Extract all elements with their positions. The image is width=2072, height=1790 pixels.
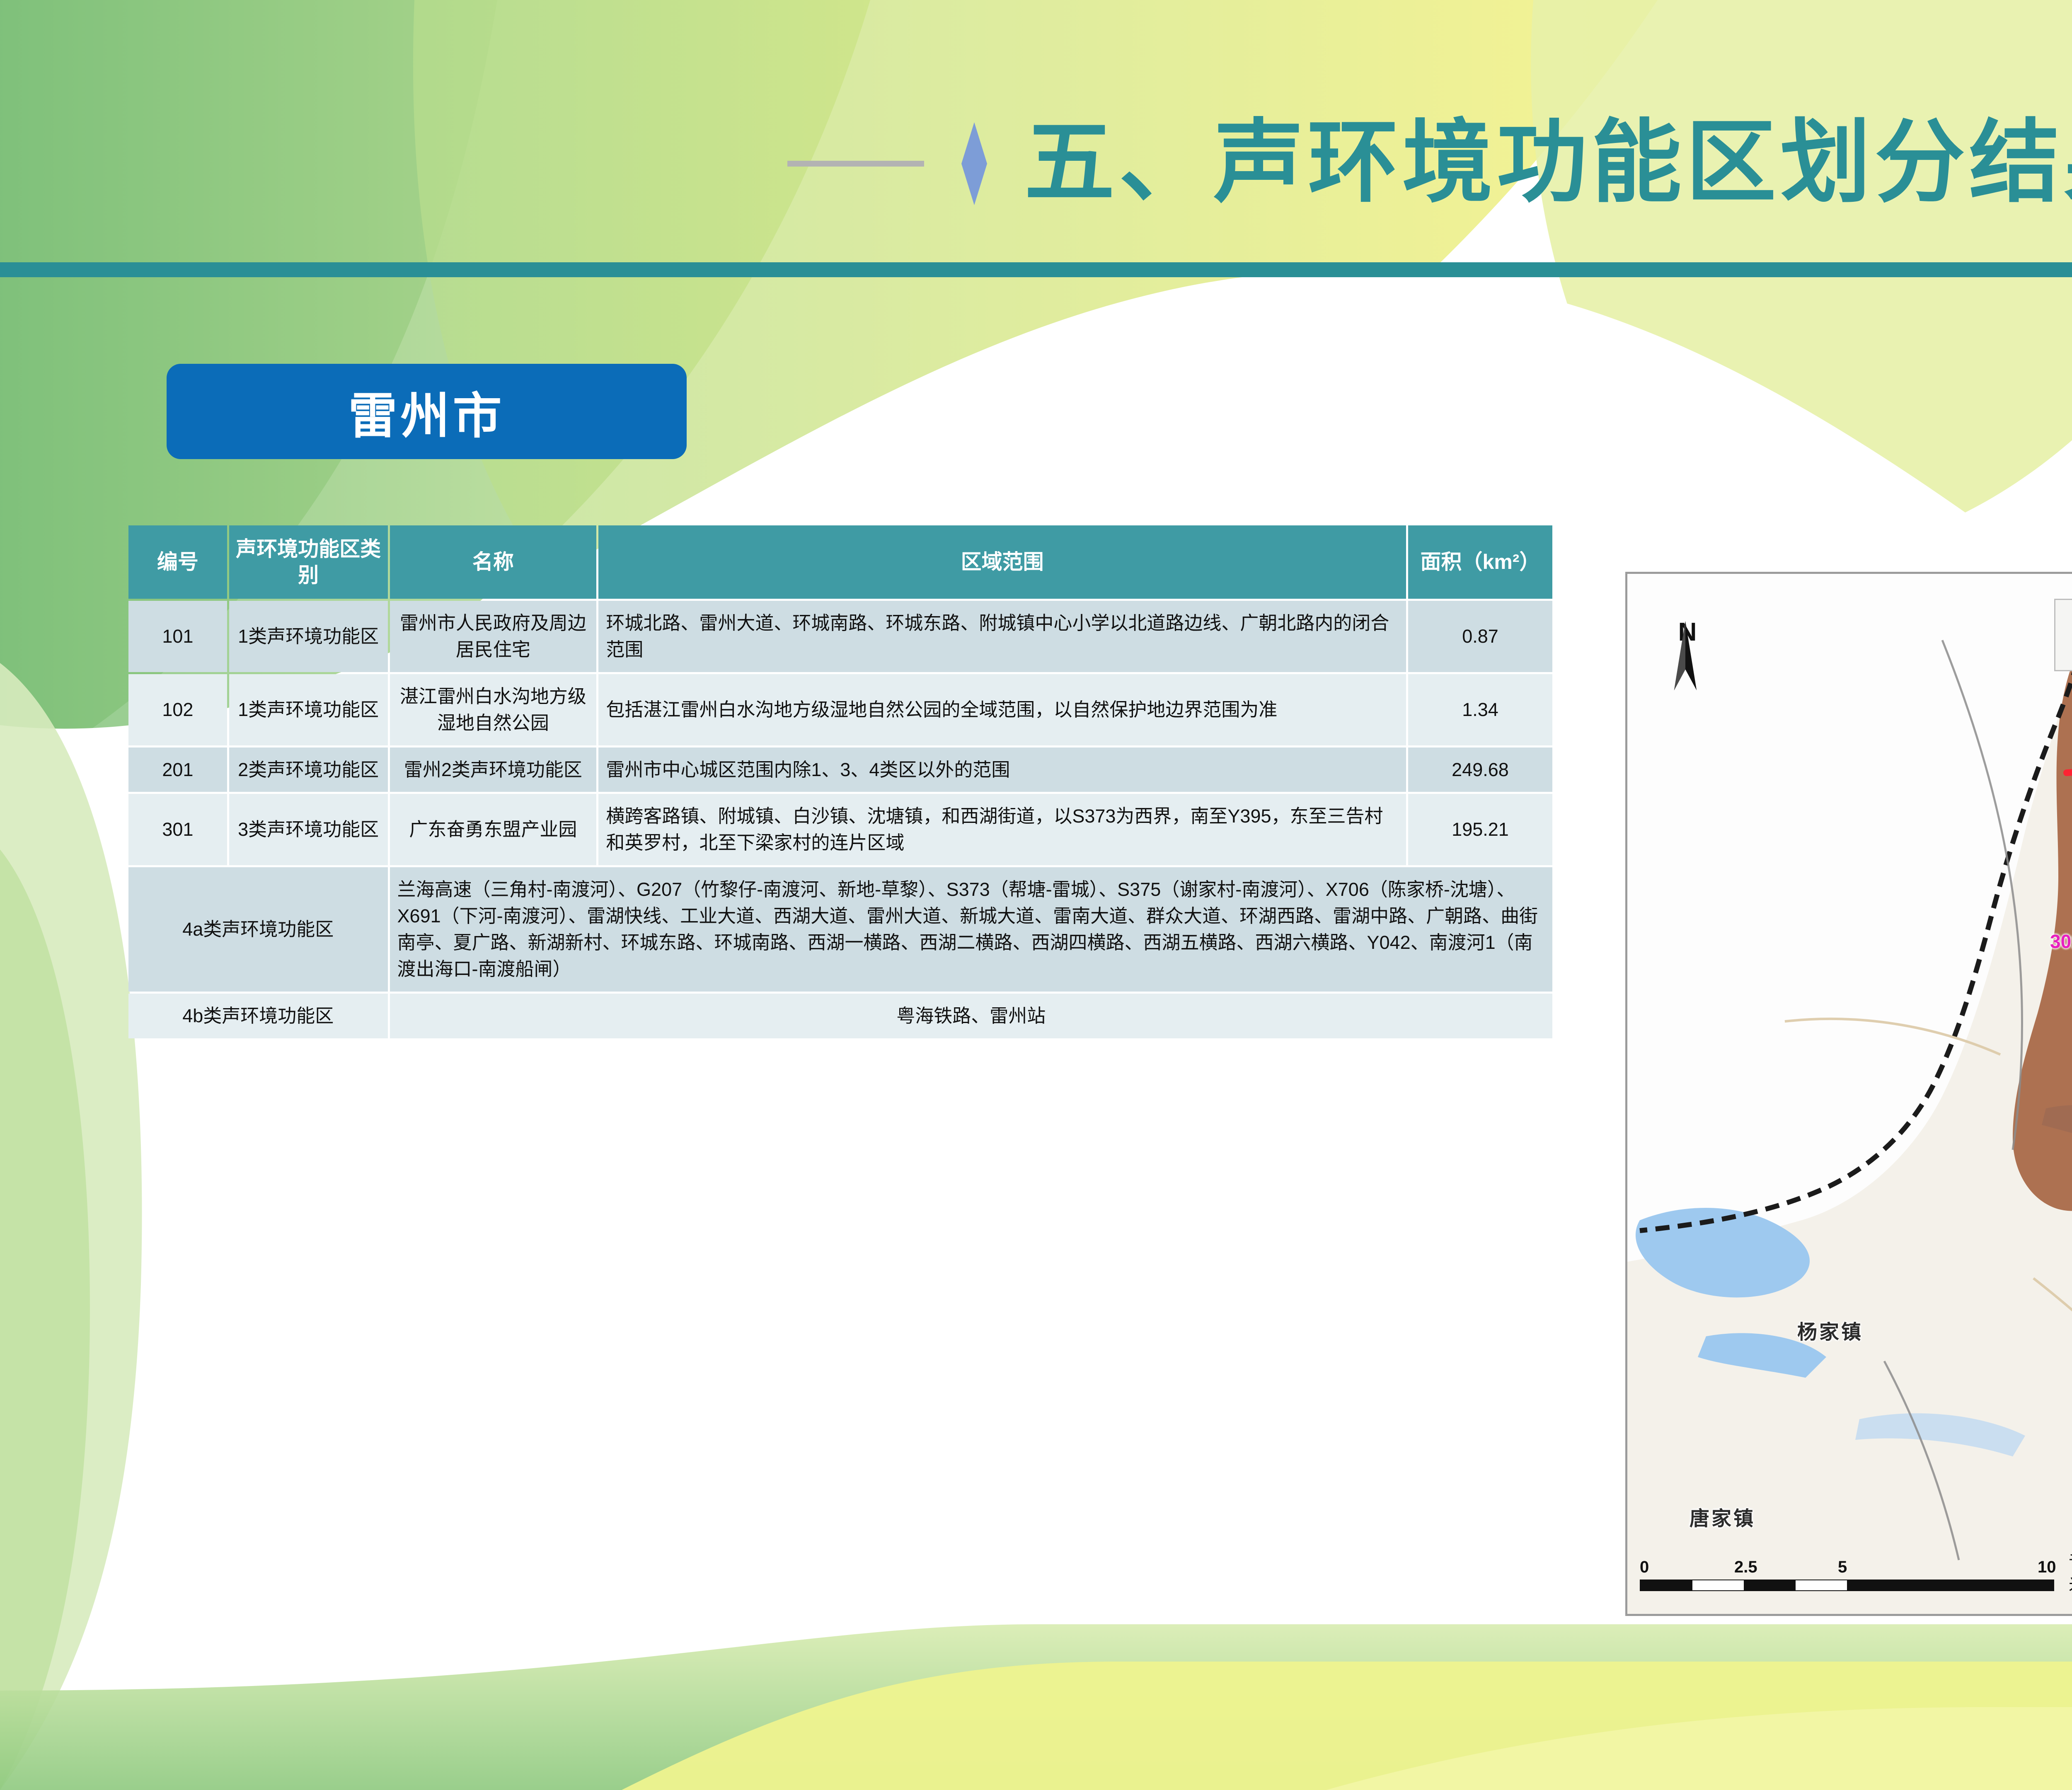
city-badge: 雷州市 (167, 364, 687, 459)
scale-tick: 2.5 (1734, 1558, 1757, 1577)
cell-cat: 2类声环境功能区 (229, 747, 388, 792)
table-row: 201 2类声环境功能区 雷州2类声环境功能区 雷州市中心城区范围内除1、3、4… (128, 747, 1552, 792)
title-dash-left (787, 161, 924, 167)
cell-no: 301 (128, 794, 227, 865)
cell-no: 102 (128, 674, 227, 745)
cell-cat: 1类声环境功能区 (229, 601, 388, 672)
cell-name: 雷州市人民政府及周边居民住宅 (390, 601, 597, 672)
city-badge-label: 雷州市 (348, 376, 505, 447)
map-label-town: 杨家镇 (1797, 1316, 1863, 1345)
th-range: 区域范围 (598, 525, 1406, 599)
cell-area: 0.87 (1408, 601, 1552, 672)
table-row: 101 1类声环境功能区 雷州市人民政府及周边居民住宅 环城北路、雷州大道、环城… (128, 601, 1552, 672)
zone-table: 编号 声环境功能区类别 名称 区域范围 面积（km²） 101 1类声环境功能区… (126, 523, 1554, 1040)
zone-table-body: 101 1类声环境功能区 雷州市人民政府及周边居民住宅 环城北路、雷州大道、环城… (128, 601, 1552, 1038)
scale-ticks: 0 2.5 5 10 (1640, 1558, 2062, 1580)
cell-cat: 1类声环境功能区 (229, 674, 388, 745)
cell-range: 横跨客路镇、附城镇、白沙镇、沈塘镇，和西湖街道，以S373为西界，南至Y395，… (598, 794, 1406, 865)
slide-title-row: 五、声环境功能区划分结果 (0, 95, 2072, 232)
cell-cat: 4a类声环境功能区 (128, 867, 388, 992)
cell-range: 兰海高速（三角村-南渡河）、G207（竹黎仔-南渡河、新地-草黎）、S373（帮… (390, 867, 1552, 992)
north-arrow-icon (1661, 619, 1710, 692)
cell-name: 湛江雷州白水沟地方级湿地自然公园 (390, 674, 597, 745)
cell-range: 粤海铁路、雷州站 (390, 994, 1552, 1038)
scale-tick: 10 (2038, 1558, 2056, 1577)
cell-name: 雷州2类声环境功能区 (390, 747, 597, 792)
diamond-icon-left (961, 122, 987, 205)
map-title-box: 雷州市声环境功能区划图 (2054, 599, 2072, 671)
cell-name: 广东奋勇东盟产业园 (390, 794, 597, 865)
scale-unit: 千米 (2069, 1547, 2072, 1595)
scale-tick: 0 (1640, 1558, 1649, 1577)
map-scale-bar: 0 2.5 5 10 千米 (1640, 1558, 2062, 1591)
cell-range: 雷州市中心城区范围内除1、3、4类区以外的范围 (598, 747, 1406, 792)
cell-cat: 3类声环境功能区 (229, 794, 388, 865)
th-area: 面积（km²） (1408, 525, 1552, 599)
table-row: 4b类声环境功能区 粤海铁路、雷州站 (128, 994, 1552, 1038)
table-row: 4a类声环境功能区 兰海高速（三角村-南渡河）、G207（竹黎仔-南渡河、新地-… (128, 867, 1552, 992)
map-label-town: 唐家镇 (1690, 1502, 1755, 1531)
zoning-map[interactable]: 雷州市声环境功能区划图 N 客路镇 白沙镇 杨家镇 唐家镇 松竹镇 西湖街道 新… (1625, 572, 2072, 1616)
th-no: 编号 (128, 525, 227, 599)
cell-area: 195.21 (1408, 794, 1552, 865)
th-cat: 声环境功能区类别 (229, 525, 388, 599)
table-header-row: 编号 声环境功能区类别 名称 区域范围 面积（km²） (128, 525, 1552, 599)
table-row: 102 1类声环境功能区 湛江雷州白水沟地方级湿地自然公园 包括湛江雷州白水沟地… (128, 674, 1552, 745)
table-row: 301 3类声环境功能区 广东奋勇东盟产业园 横跨客路镇、附城镇、白沙镇、沈塘镇… (128, 794, 1552, 865)
scale-tick: 5 (1838, 1558, 1847, 1577)
title-underline-rule (0, 262, 2072, 277)
cell-cat: 4b类声环境功能区 (128, 994, 388, 1038)
page-title: 五、声环境功能区划分结果 (1024, 119, 2072, 209)
map-zone-id: 301 (2050, 930, 2072, 953)
zone-table-wrapper: 编号 声环境功能区类别 名称 区域范围 面积（km²） 101 1类声环境功能区… (126, 523, 1554, 1040)
map-graphic (1627, 574, 2072, 1614)
cell-range: 环城北路、雷州大道、环城南路、环城东路、附城镇中心小学以北道路边线、广朝北路内的… (598, 601, 1406, 672)
north-arrow: N (1661, 619, 1714, 723)
cell-area: 249.68 (1408, 747, 1552, 792)
cell-area: 1.34 (1408, 674, 1552, 745)
cell-no: 201 (128, 747, 227, 792)
cell-range: 包括湛江雷州白水沟地方级湿地自然公园的全域范围，以自然保护地边界范围为准 (598, 674, 1406, 745)
scale-bar-graphic (1640, 1580, 2054, 1591)
th-name: 名称 (390, 525, 597, 599)
cell-no: 101 (128, 601, 227, 672)
